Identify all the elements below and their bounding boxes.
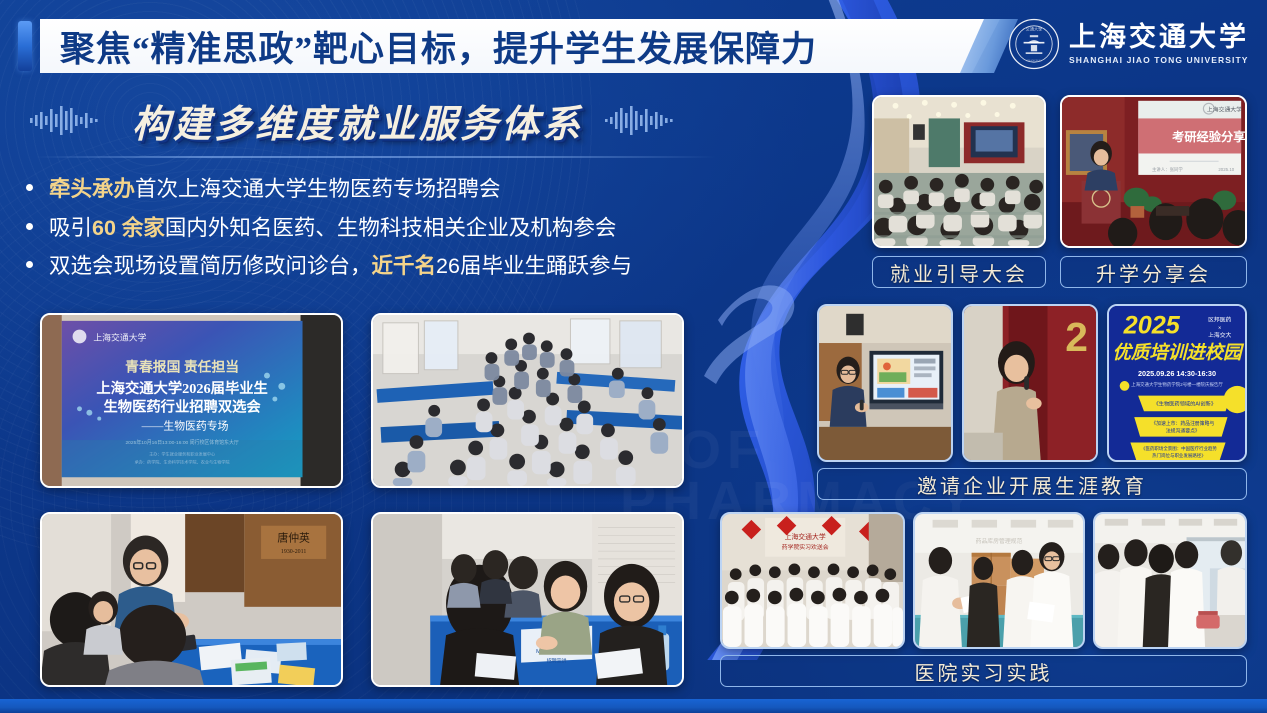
svg-text:×: × — [1218, 325, 1221, 331]
svg-text:药品库房管理规范: 药品库房管理规范 — [976, 537, 1023, 545]
svg-text:药学院实习欢送会: 药学院实习欢送会 — [782, 543, 829, 551]
svg-text:生物医药行业招聘双选会: 生物医药行业招聘双选会 — [104, 398, 262, 416]
logo-names: 上海交通大学 SHANGHAI JIAO TONG UNIVERSITY — [1069, 23, 1249, 64]
caption-text: 升学分享会 — [1096, 258, 1211, 287]
enterprise-lecture-photo[interactable] — [817, 304, 953, 462]
caption-text: 就业引导大会 — [890, 258, 1028, 287]
subtitle-text: 构建多维度就业服务体系 — [132, 93, 583, 148]
bullet-dot-icon — [26, 261, 33, 268]
bullet-list: 牵头承办首次上海交通大学生物医药专场招聘会 吸引60 余家国内外知名医药、生物科… — [26, 176, 741, 292]
svg-text:优质培训进校园: 优质培训进校园 — [1112, 342, 1245, 363]
caption-enterprise-career-education: 邀请企业开展生涯教育 — [817, 468, 1247, 500]
svg-text:热门岗位与职业发展路径》: 热门岗位与职业发展路径》 — [1152, 452, 1206, 459]
svg-text:青春报国 责任担当: 青春报国 责任担当 — [125, 359, 239, 375]
university-logo: 交通大學 SHANGHAI 上海交通大学 SHANGHAI JIAO TONG … — [1008, 18, 1249, 70]
svg-text:——生物医药专场: ——生物医药专场 — [141, 418, 229, 432]
svg-text:唐仲英: 唐仲英 — [277, 530, 310, 544]
page-title: 聚焦“精准思政”靶心目标，提升学生发展保障力 — [60, 21, 817, 72]
svg-text:2: 2 — [1065, 314, 1088, 360]
caption-career-conference: 就业引导大会 — [872, 256, 1046, 288]
job-fair-crowd-photo[interactable] — [371, 313, 684, 488]
svg-text:考研经验分享: 考研经验分享 — [1172, 129, 1245, 144]
list-item: 双选会现场设置简历修改问诊台，近千名26届毕业生踊跃参与 — [26, 253, 741, 281]
svg-text:SHANGHAI: SHANGHAI — [1027, 59, 1042, 63]
booth-interview-photo[interactable]: MSD·默沙东制药 招聘宣讲 — [371, 512, 684, 687]
svg-text:上海交大: 上海交大 — [1208, 331, 1231, 339]
svg-text:上海交通大学2026届毕业生: 上海交通大学2026届毕业生 — [96, 379, 267, 397]
caption-grad-exam-sharing: 升学分享会 — [1060, 256, 1247, 288]
bullet-dot-icon — [26, 223, 33, 230]
bullet-text: 牵头承办首次上海交通大学生物医药专场招聘会 — [49, 176, 501, 204]
university-seal-icon: 交通大學 SHANGHAI — [1008, 18, 1060, 70]
svg-text:2025.10: 2025.10 — [1218, 167, 1234, 172]
logo-name-en: SHANGHAI JIAO TONG UNIVERSITY — [1069, 55, 1249, 65]
subtitle-row: 构建多维度就业服务体系 — [0, 94, 720, 146]
svg-text:上海交通大学: 上海交通大学 — [785, 532, 826, 541]
svg-text:交通大學: 交通大學 — [1026, 25, 1043, 31]
slide-root: L OF PHARMACY 聚焦“精准思政”靶心目标，提升学生发展保障力 交通大… — [0, 0, 1267, 713]
enterprise-lecture-photo-2[interactable]: 2 — [962, 304, 1098, 462]
list-item: 牵头承办首次上海交通大学生物医药专场招聘会 — [26, 176, 741, 204]
svg-text:上海交通大学: 上海交通大学 — [1207, 106, 1242, 114]
audio-waveform-icon — [30, 104, 102, 136]
header: 聚焦“精准思政”靶心目标，提升学生发展保障力 交通大學 SHANGHAI 上海交… — [0, 0, 1267, 88]
hospital-pharmacy-warehouse-photo[interactable]: 药品库房管理规范 — [913, 512, 1085, 649]
logo-name-cn: 上海交通大学 — [1069, 23, 1249, 51]
bullet-text: 吸引60 余家国内外知名医药、生物科技相关企业及机构参会 — [49, 215, 616, 243]
svg-text:《医药职场全景图：中国医疗行业趋势: 《医药职场全景图：中国医疗行业趋势 — [1141, 445, 1217, 452]
svg-text:招聘宣讲: 招聘宣讲 — [547, 658, 567, 665]
bullet-text: 双选会现场设置简历修改问诊台，近千名26届毕业生踊跃参与 — [49, 253, 632, 281]
title-banner: 聚焦“精准思政”靶心目标，提升学生发展保障力 — [40, 19, 1000, 73]
list-item: 吸引60 余家国内外知名医药、生物科技相关企业及机构参会 — [26, 215, 741, 243]
header-divider — [36, 156, 716, 158]
career-guidance-conference-photo[interactable] — [872, 95, 1046, 248]
caption-text: 医院实习实践 — [915, 657, 1053, 686]
caption-hospital-internship: 医院实习实践 — [720, 655, 1247, 687]
bullet-dot-icon — [26, 184, 33, 191]
svg-text:2025.09.26 14:30-16:30: 2025.09.26 14:30-16:30 — [1138, 369, 1216, 378]
svg-text:《生物医药领域的AI创新》: 《生物医药领域的AI创新》 — [1153, 399, 1216, 407]
svg-text:法规沟通要点》: 法规沟通要点》 — [1166, 428, 1200, 435]
job-fair-backdrop-photo[interactable]: 上海交通大学 青春报国 责任担当 上海交通大学2026届毕业生 生物医药行业招聘… — [40, 313, 343, 488]
hospital-group-photo[interactable]: 上海交通大学 药学院实习欢送会 — [720, 512, 905, 649]
accent-bar — [18, 21, 32, 71]
svg-text:《加速上市：药品注册策略与: 《加速上市：药品注册策略与 — [1151, 420, 1214, 427]
svg-text:1930-2011: 1930-2011 — [281, 549, 306, 555]
hospital-pharmacy-counter-photo[interactable] — [1093, 512, 1247, 649]
svg-text:主讲人：张同学: 主讲人：张同学 — [1152, 166, 1183, 173]
training-campus-poster[interactable]: 2025 区邦医药 × 上海交大 优质培训进校园 2025.09.26 14:3… — [1107, 304, 1247, 462]
caption-text: 邀请企业开展生涯教育 — [917, 470, 1147, 499]
bottom-accent-bar — [0, 699, 1267, 713]
svg-text:上海交通大学: 上海交通大学 — [93, 331, 146, 342]
graduate-exam-sharing-photo[interactable]: 上海交通大学 考研经验分享 主讲人：张同学 2025.10 — [1060, 95, 1247, 248]
svg-text:上海交通大学生物药学院2号楼一楼院庆报告厅: 上海交通大学生物药学院2号楼一楼院庆报告厅 — [1131, 381, 1223, 388]
svg-text:2025: 2025 — [1123, 311, 1181, 339]
resume-clinic-photo[interactable]: 唐仲英 1930-2011 — [40, 512, 343, 687]
audio-waveform-icon — [605, 104, 677, 136]
svg-text:区邦医药: 区邦医药 — [1208, 316, 1231, 324]
